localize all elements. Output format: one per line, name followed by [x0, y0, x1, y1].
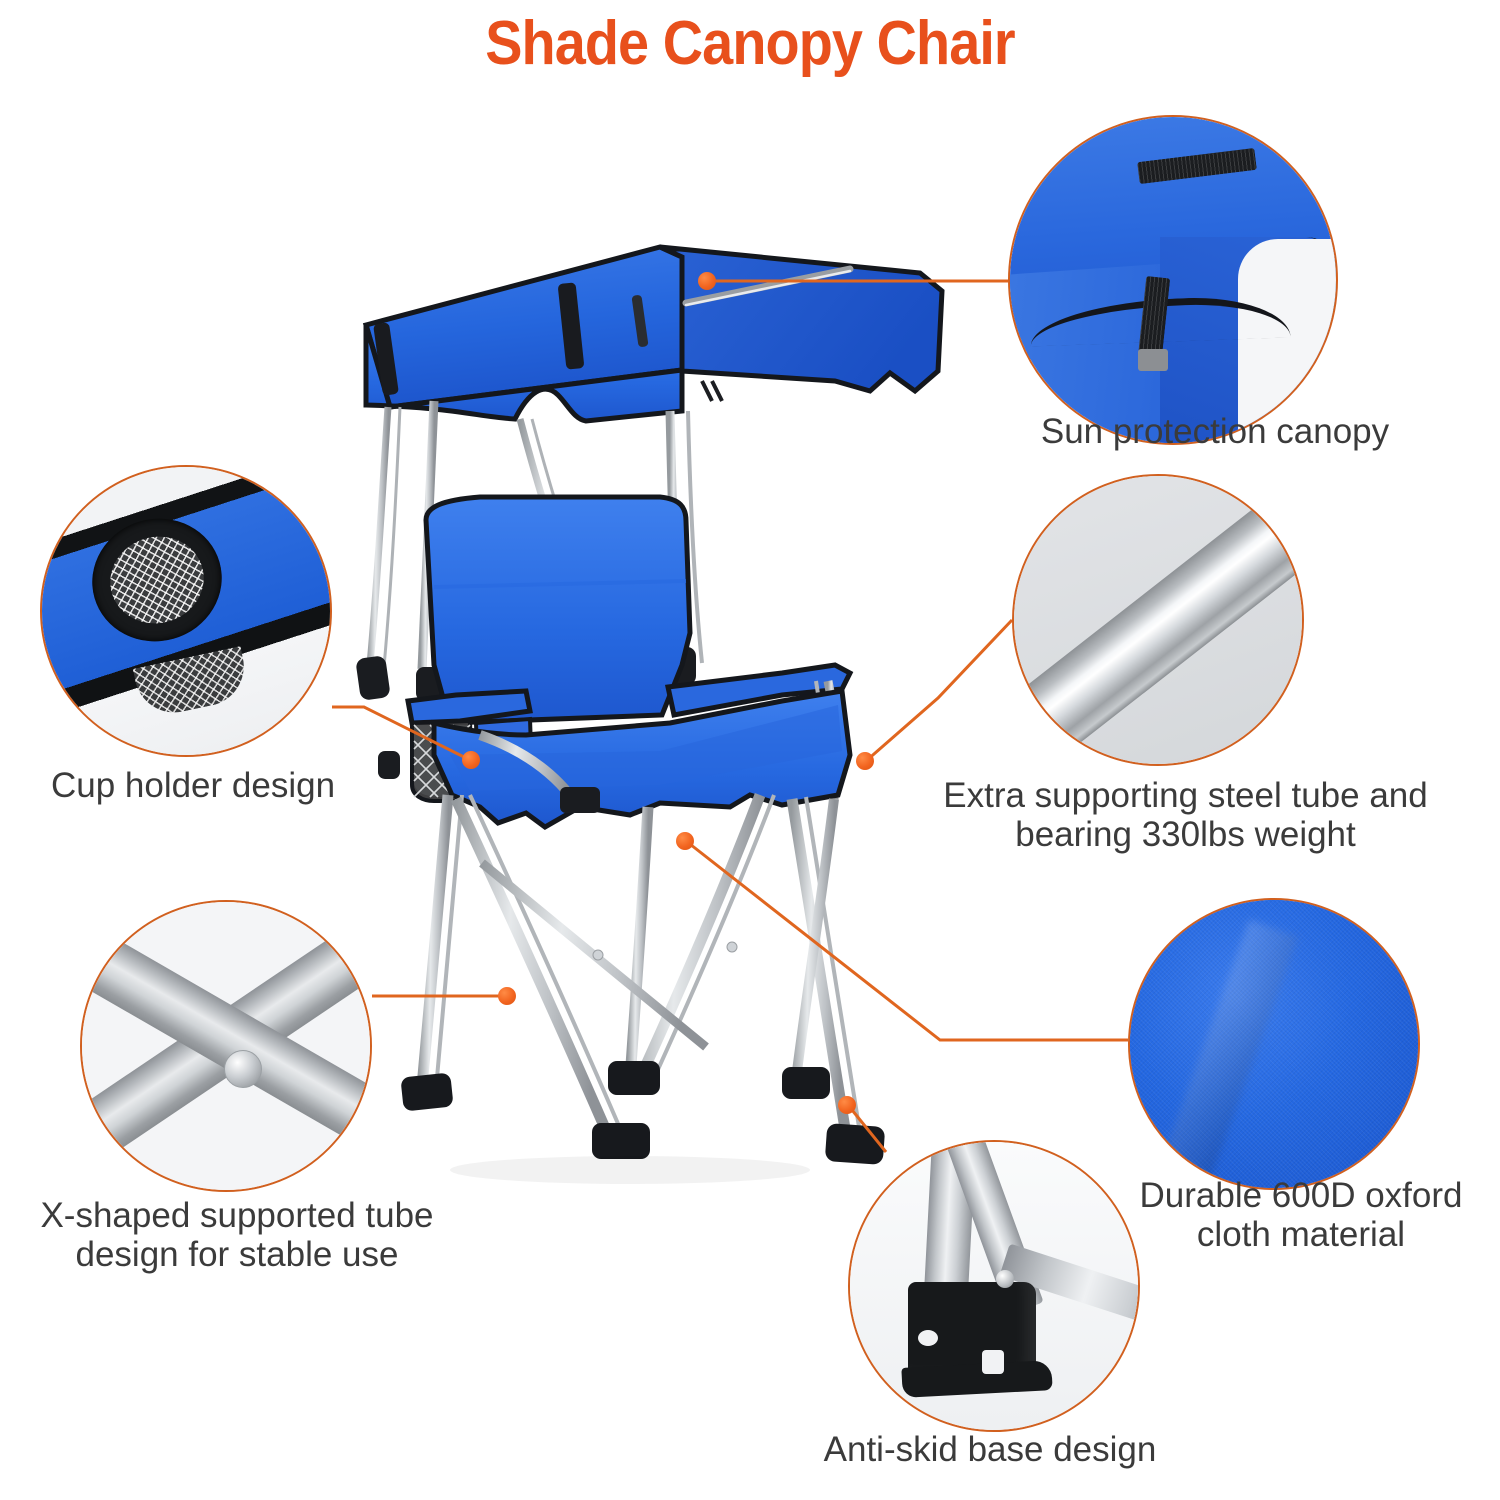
detail-bubble-extra-supporting-steel-tube	[1012, 474, 1304, 766]
detail-bubble-x-shaped-supported-tube	[80, 900, 372, 1192]
steel-tube-detail-icon	[1014, 476, 1302, 764]
callout-dot-x-tube	[498, 987, 516, 1005]
page-title: Shade Canopy Chair	[75, 8, 1425, 79]
anti-skid-foot-detail-icon	[850, 1142, 1138, 1430]
detail-bubble-anti-skid-base	[848, 1140, 1140, 1432]
callout-dot-cup-holder	[462, 751, 480, 769]
callout-dot-oxford	[676, 832, 694, 850]
chair-illustration	[330, 195, 1020, 1220]
mesh-icon	[100, 526, 214, 635]
callout-dot-steel-tube	[856, 752, 874, 770]
rivet-icon	[224, 1050, 262, 1088]
caption-sun-protection-canopy: Sun protection canopy	[1000, 412, 1430, 451]
caption-cup-holder: Cup holder design	[8, 766, 378, 805]
callout-dot-anti-skid	[838, 1096, 856, 1114]
caption-x-shaped-supported-tube: X-shaped supported tube design for stabl…	[2, 1196, 472, 1274]
detail-bubble-sun-protection-canopy	[1008, 115, 1338, 445]
x-tube-detail-icon	[82, 902, 370, 1190]
oxford-fabric-detail-icon	[1130, 900, 1418, 1188]
cup-holder-detail-icon	[42, 467, 330, 755]
canopy-detail-icon	[1010, 117, 1336, 443]
callout-dot-canopy	[698, 272, 716, 290]
detail-bubble-durable-oxford-cloth	[1128, 898, 1420, 1190]
infographic-canvas: Shade Canopy Chair	[0, 0, 1500, 1500]
detail-bubble-cup-holder	[40, 465, 332, 757]
caption-extra-supporting-steel-tube: Extra supporting steel tube and bearing …	[898, 776, 1473, 854]
caption-durable-oxford-cloth: Durable 600D oxford cloth material	[1110, 1176, 1492, 1254]
product-image	[330, 195, 1020, 1220]
buckle-icon	[1138, 349, 1168, 371]
caption-anti-skid-base: Anti-skid base design	[770, 1430, 1210, 1469]
